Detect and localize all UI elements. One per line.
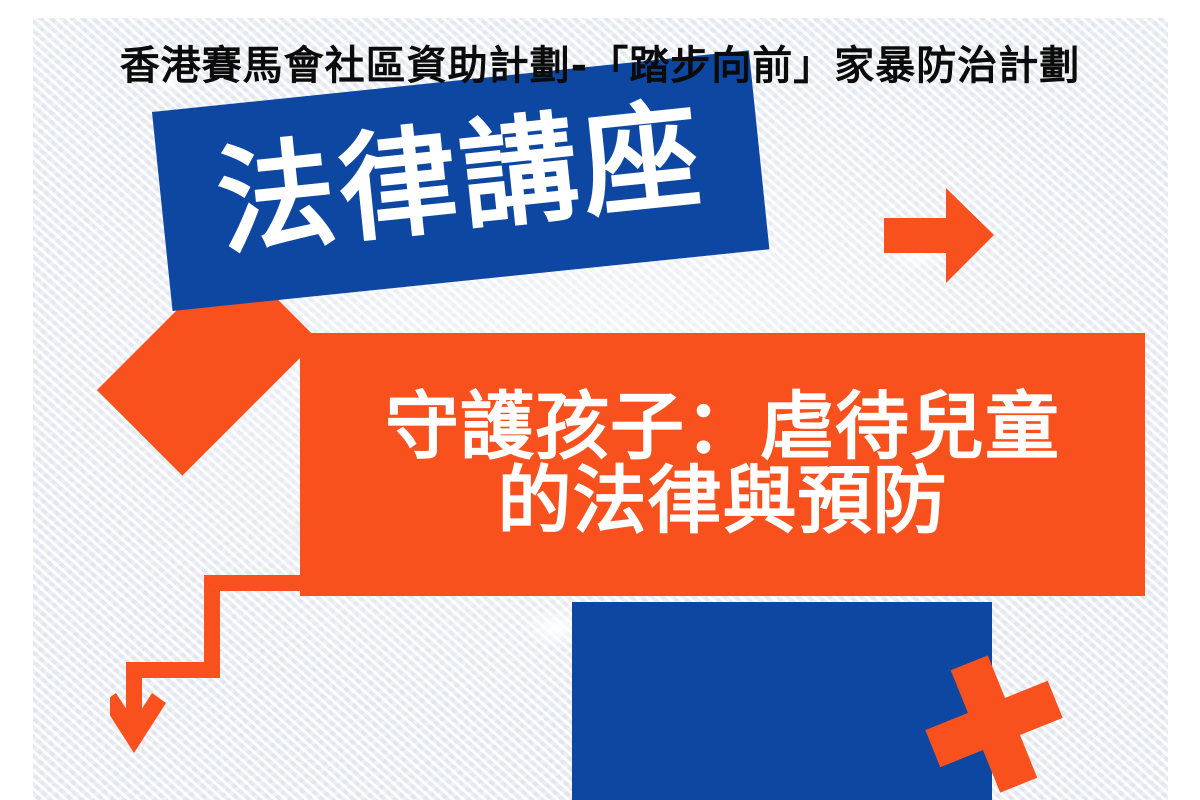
orange-subject-block: 守護孩子：虐待兒童 的法律與預防 xyxy=(300,333,1145,596)
poster-canvas: 香港賽馬會社區資助計劃-「踏步向前」家暴防治計劃 法律講座 守護孩子：虐待兒童 … xyxy=(0,0,1200,800)
banner-label: 法律講座 xyxy=(212,95,710,263)
margin-top xyxy=(0,0,1200,18)
margin-left xyxy=(0,0,33,800)
stepped-down-arrow-icon xyxy=(110,575,340,760)
subject-line-2: 的法律與預防 xyxy=(498,466,948,538)
subject-line-1: 守護孩子：虐待兒童 xyxy=(385,392,1060,464)
margin-right xyxy=(1168,0,1200,800)
right-arrow-icon xyxy=(884,188,994,283)
page-title: 香港賽馬會社區資助計劃-「踏步向前」家暴防治計劃 xyxy=(0,33,1200,91)
